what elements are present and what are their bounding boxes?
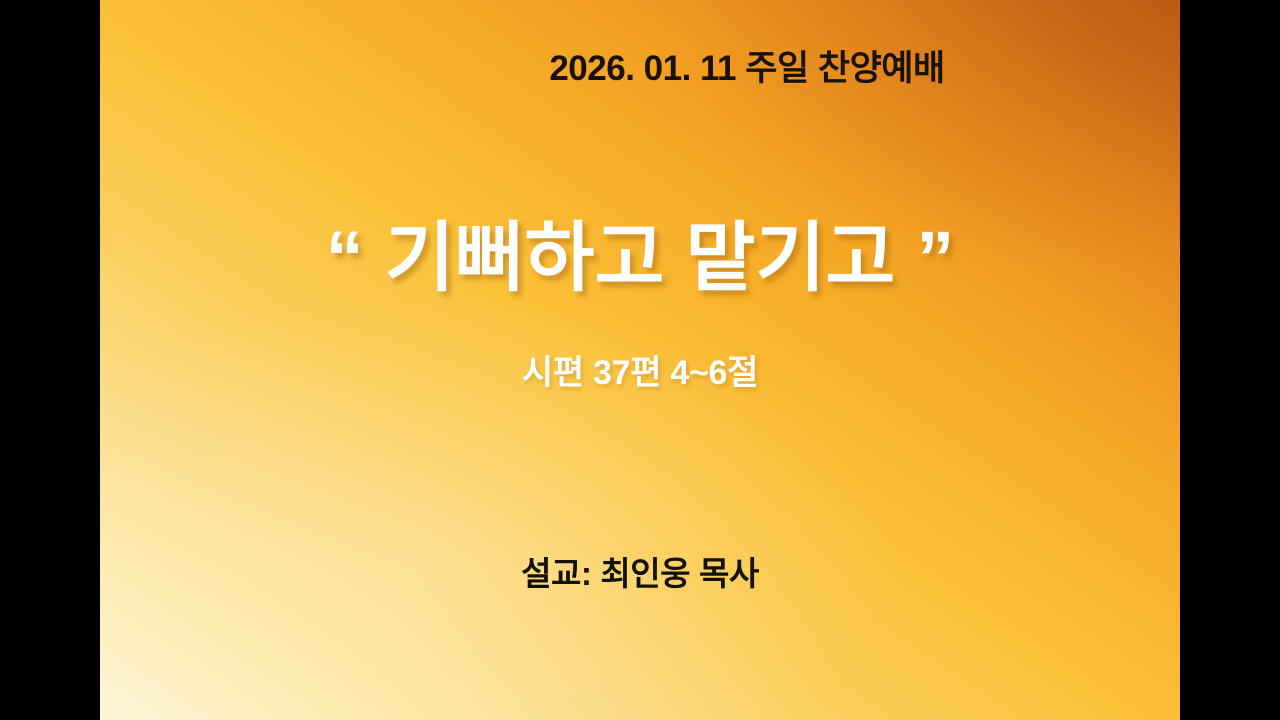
preacher-credit-label: 설교: 최인웅 목사 — [100, 547, 1180, 595]
scripture-reference-label: 시편 37편 4~6절 — [100, 345, 1180, 394]
slide-root: 2026. 01. 11 주일 찬양예배 “ 기뻐하고 맡기고 ” 시편 37편… — [0, 0, 1280, 720]
sermon-title: “ 기뻐하고 맡기고 ” — [100, 196, 1180, 306]
service-date-label: 2026. 01. 11 주일 찬양예배 — [100, 40, 1180, 91]
content-stage: 2026. 01. 11 주일 찬양예배 “ 기뻐하고 맡기고 ” 시편 37편… — [100, 0, 1180, 720]
letterbox-bar-right — [1180, 0, 1280, 720]
text-layer: 2026. 01. 11 주일 찬양예배 “ 기뻐하고 맡기고 ” 시편 37편… — [100, 0, 1180, 720]
letterbox-bar-left — [0, 0, 100, 720]
